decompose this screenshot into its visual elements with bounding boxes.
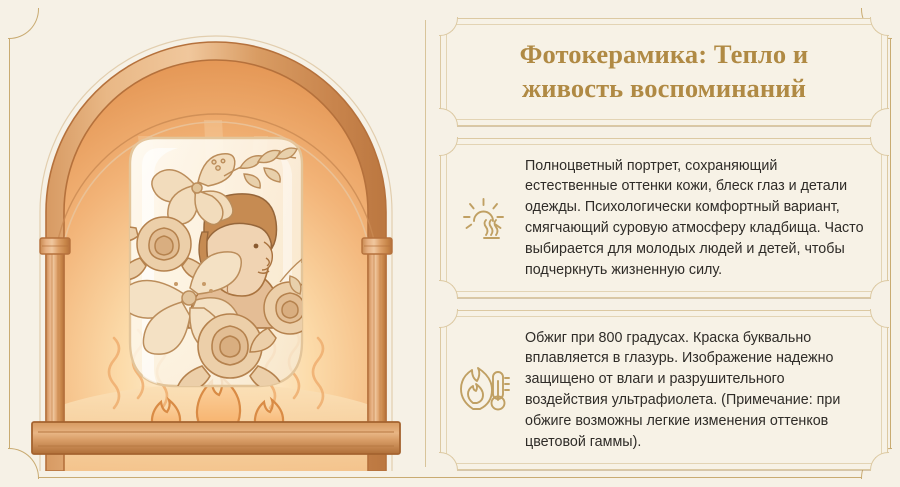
flame-thermometer-icon (455, 367, 513, 413)
firing-card-corner-top-left (439, 309, 458, 328)
firing-card-corner-bottom-left (439, 452, 458, 471)
content-column: Фотокерамика: Тепло и живость воспоминан… (440, 18, 888, 470)
firing-text: Обжиг при 800 градусах. Краска буквально… (525, 328, 869, 453)
page-title-line-1: Фотокерамика: Тепло и (520, 38, 809, 72)
title-card: Фотокерамика: Тепло и живость воспоминан… (440, 18, 888, 126)
page-title-line-2: живость воспоминаний (520, 72, 809, 106)
info-card-benefits: Полноцветный портрет, сохраняющий естест… (440, 138, 888, 298)
title-card-corner-top-left (439, 17, 458, 36)
title-card-corner-bottom-left (439, 108, 458, 127)
benefits-card-corner-bottom-right (870, 280, 889, 299)
illustration-svg (18, 16, 414, 471)
benefits-card-corner-bottom-left (439, 280, 458, 299)
arch-base (32, 422, 400, 454)
page-title: Фотокерамика: Тепло и живость воспоминан… (494, 38, 835, 105)
sun-heat-icon (455, 195, 513, 241)
firing-card-corner-bottom-right (870, 452, 889, 471)
firing-card-corner-top-right (870, 309, 889, 328)
benefits-card-corner-top-left (439, 137, 458, 156)
benefits-text: Полноцветный портрет, сохраняющий естест… (525, 156, 869, 281)
panel-divider (425, 20, 426, 467)
memorial-illustration (18, 16, 414, 471)
infographic-page: Фотокерамика: Тепло и живость воспоминан… (0, 0, 900, 487)
info-card-firing: Обжиг при 800 градусах. Краска буквально… (440, 310, 888, 470)
title-card-corner-top-right (870, 17, 889, 36)
title-card-corner-bottom-right (870, 108, 889, 127)
benefits-card-corner-top-right (870, 137, 889, 156)
